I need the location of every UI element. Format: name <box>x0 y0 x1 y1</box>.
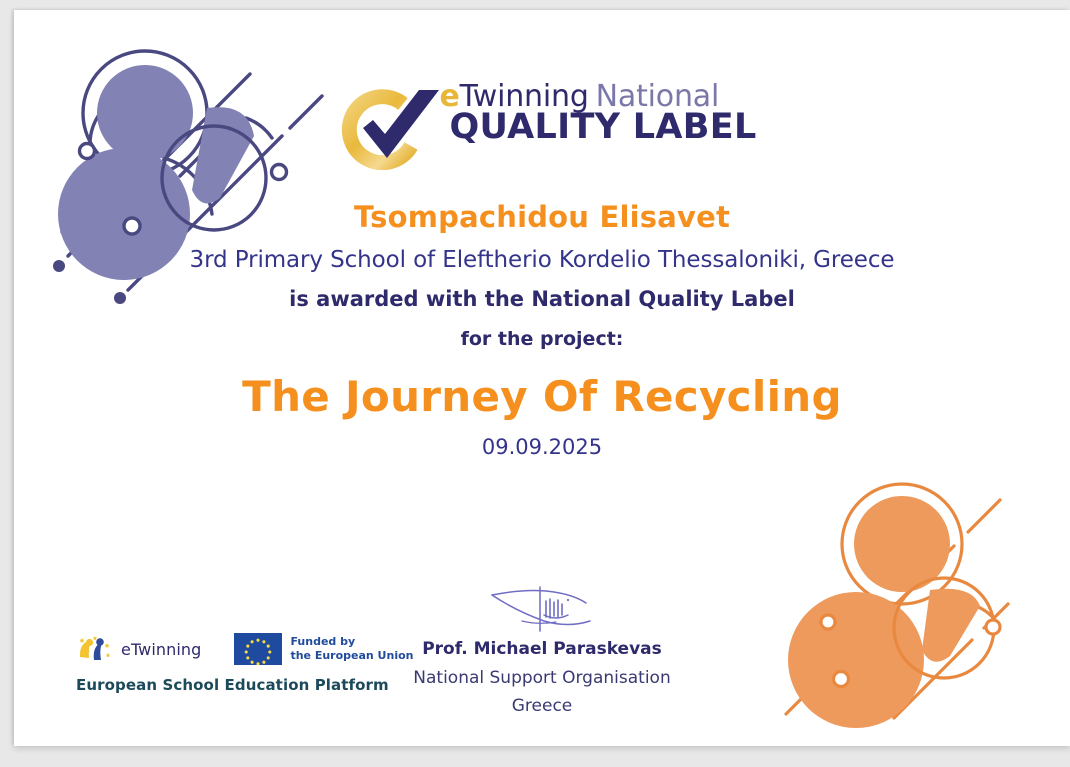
recipient-school: 3rd Primary School of Eleftherio Kordeli… <box>14 247 1070 273</box>
award-statement: is awarded with the National Quality Lab… <box>14 287 1070 311</box>
quality-label-mark-icon <box>327 84 445 170</box>
handwritten-signature-icon <box>482 581 602 633</box>
recipient-name: Tsompachidou Elisavet <box>14 200 1070 234</box>
signature-block: Prof. Michael Paraskevas National Suppor… <box>14 581 1070 716</box>
quality-label-wordmark: eTwinningNational QUALITY LABEL <box>439 82 756 145</box>
project-title: The Journey Of Recycling <box>14 372 1070 421</box>
quality-label-logo: eTwinningNational QUALITY LABEL <box>14 82 1070 170</box>
award-date: 09.09.2025 <box>14 435 1070 459</box>
signatory-name: Prof. Michael Paraskevas <box>14 639 1070 659</box>
signatory-organisation: National Support Organisation <box>14 668 1070 688</box>
certificate-page: eTwinningNational QUALITY LABEL Tsompach… <box>14 10 1070 746</box>
logo-quality-label-text: QUALITY LABEL <box>449 110 756 145</box>
project-lead-in: for the project: <box>14 328 1070 350</box>
signatory-country: Greece <box>14 696 1070 716</box>
certificate-body: Tsompachidou Elisavet 3rd Primary School… <box>14 200 1070 459</box>
